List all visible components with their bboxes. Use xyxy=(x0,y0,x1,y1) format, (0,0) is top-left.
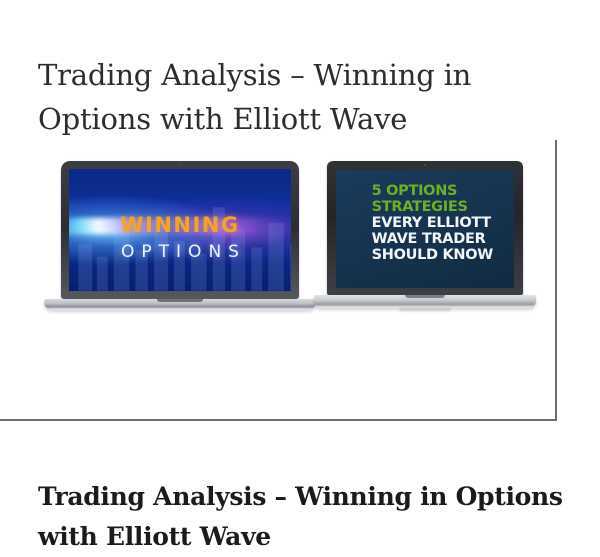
laptop-right-trackpad-notch xyxy=(405,295,445,298)
product-preview-figure: WINNING OPTIONS 5 OPTIONS STRATEGIES xyxy=(0,140,557,421)
laptop-right-base xyxy=(314,295,536,308)
page-root: Trading Analysis – Winning in Options wi… xyxy=(0,0,600,528)
page-title: Trading Analysis – Winning in Options wi… xyxy=(38,53,568,141)
laptop-left-screen: WINNING OPTIONS xyxy=(69,169,291,291)
laptop-left-trackpad-notch xyxy=(157,299,203,302)
laptop-left-lid: WINNING OPTIONS xyxy=(61,161,299,299)
laptop-right-lid: 5 OPTIONS STRATEGIES EVERY ELLIOTT WAVE … xyxy=(327,161,523,295)
screen-text-strategies-block: 5 OPTIONS STRATEGIES EVERY ELLIOTT WAVE … xyxy=(372,183,504,263)
screen-text-line-4: WAVE TRADER xyxy=(372,231,504,247)
product-preview-inner: WINNING OPTIONS 5 OPTIONS STRATEGIES xyxy=(24,154,555,419)
screen-text-line-5: SHOULD KNOW xyxy=(372,247,504,263)
product-heading: Trading Analysis – Winning in Options wi… xyxy=(38,477,568,557)
screen-text-winning: WINNING xyxy=(69,213,291,237)
laptop-right-foot xyxy=(399,308,451,311)
webcam-dot-icon xyxy=(179,164,181,166)
webcam-dot-icon xyxy=(424,164,426,166)
laptop-left-base xyxy=(44,299,316,310)
screen-text-options: OPTIONS xyxy=(69,242,291,262)
screen-text-line-2: STRATEGIES xyxy=(372,199,504,215)
laptop-mockup-left: WINNING OPTIONS xyxy=(44,161,316,316)
screen-text-line-3: EVERY ELLIOTT xyxy=(372,215,504,231)
screen-text-line-1: 5 OPTIONS xyxy=(372,183,504,199)
laptop-mockup-right: 5 OPTIONS STRATEGIES EVERY ELLIOTT WAVE … xyxy=(314,161,536,316)
laptop-right-screen: 5 OPTIONS STRATEGIES EVERY ELLIOTT WAVE … xyxy=(336,170,514,288)
